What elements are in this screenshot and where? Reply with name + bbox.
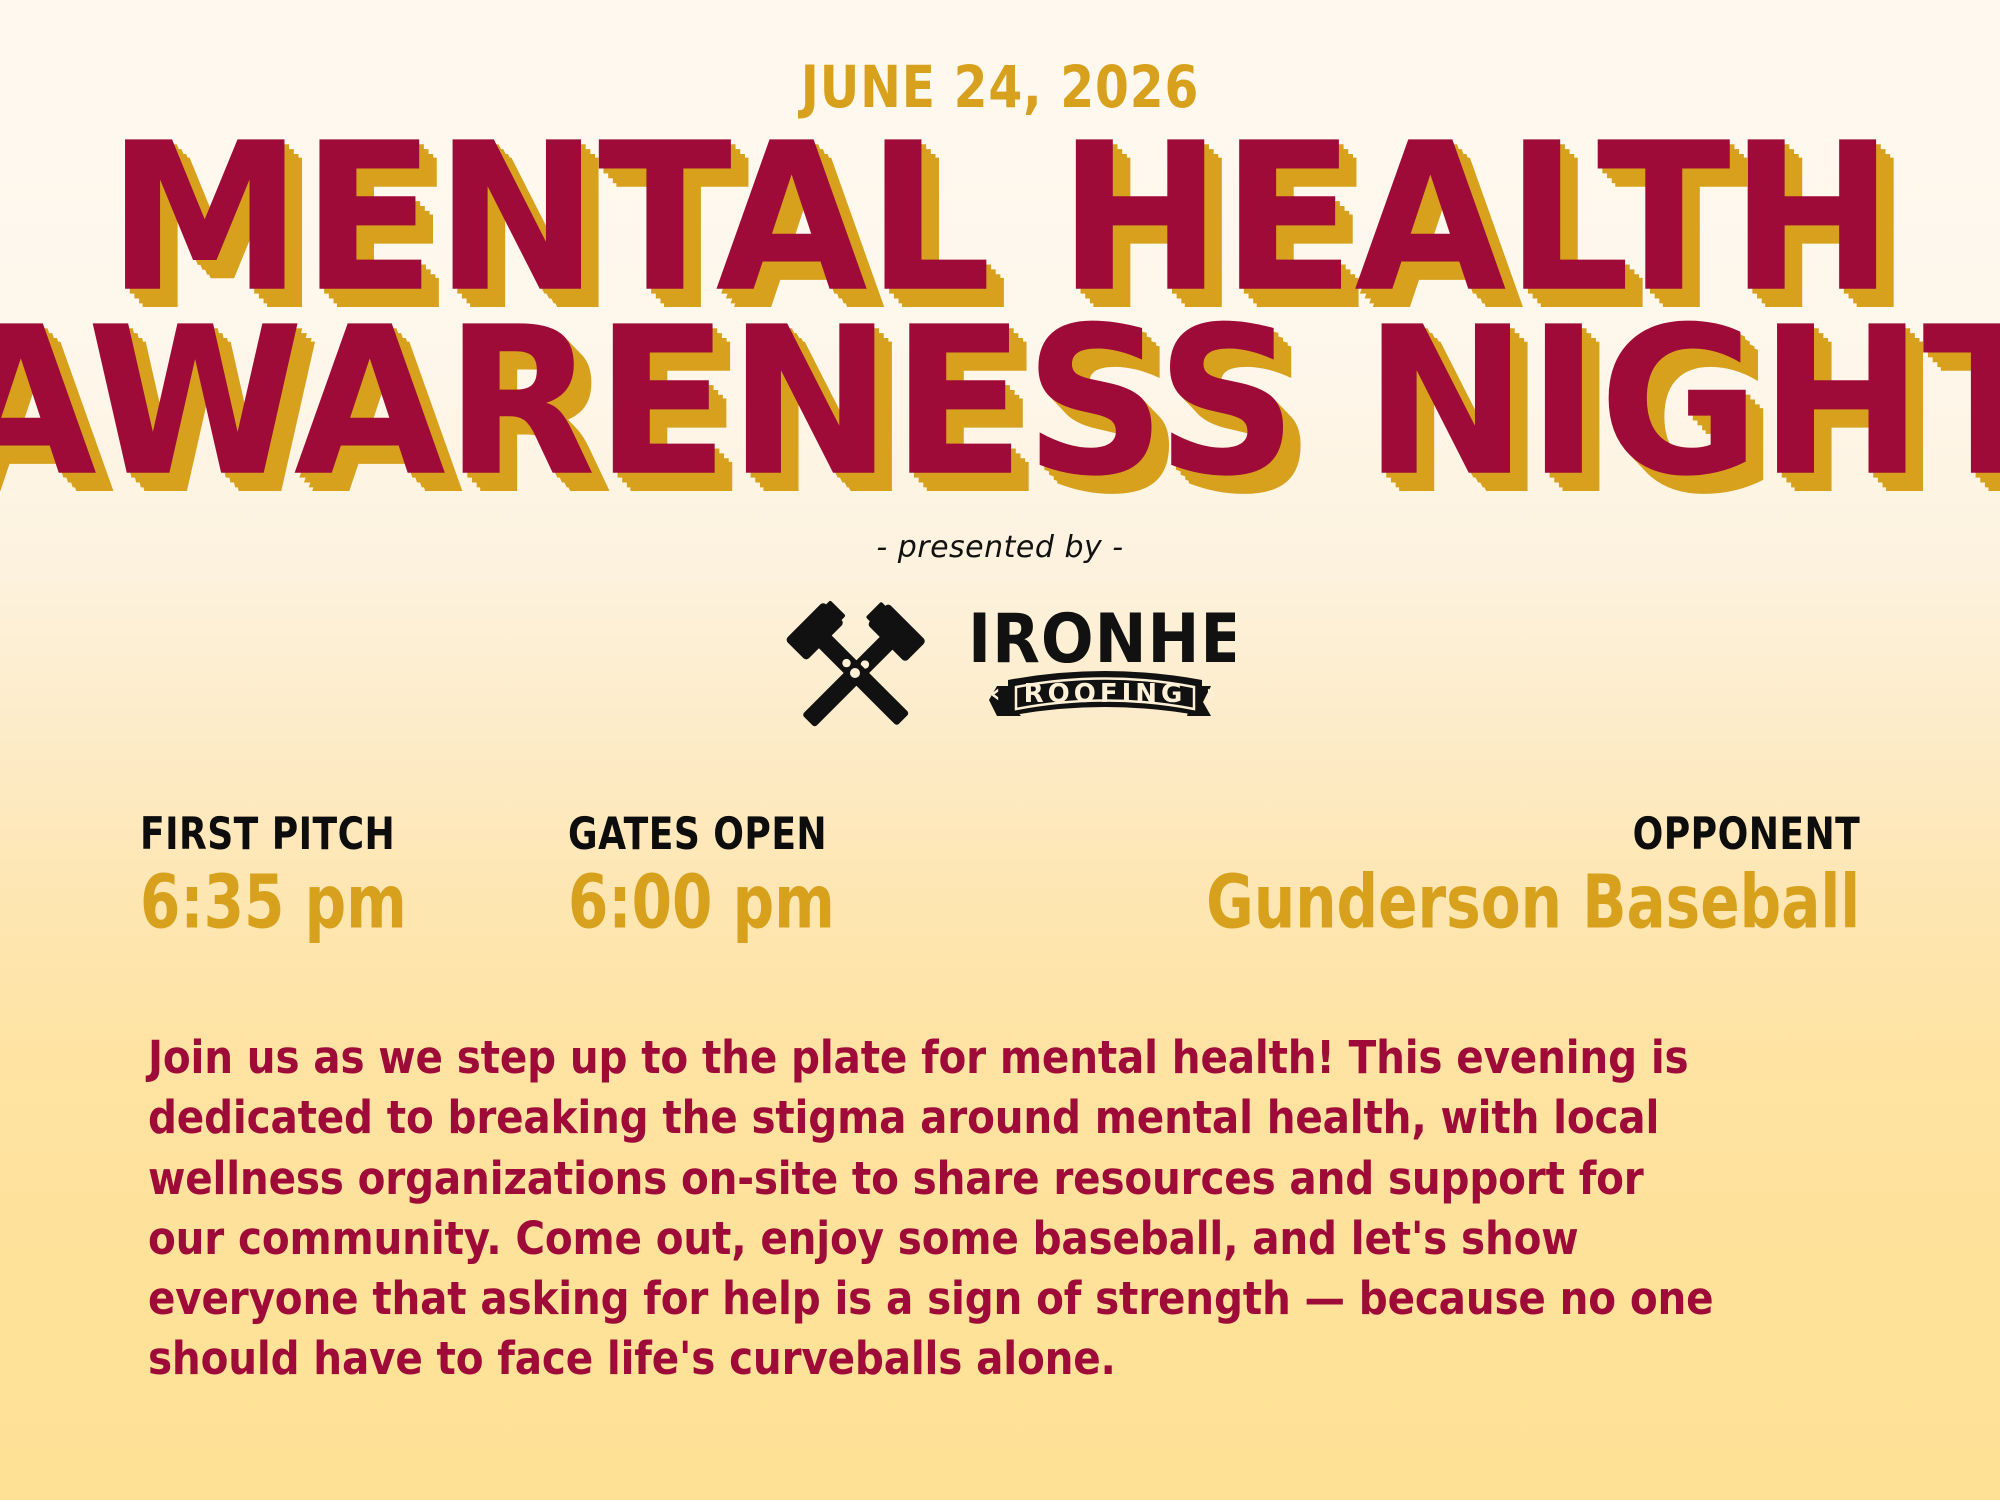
title-line-2: AWARENESS NIGHT (0, 307, 2000, 498)
banner-left-bracket: ‹ (990, 679, 1005, 709)
gates-open-value: 6:00 pm (568, 866, 835, 940)
opponent-value: Gunderson Baseball (1206, 866, 1860, 940)
opponent-label: OPPONENT (1221, 812, 1860, 856)
crossed-hammers-icon (785, 598, 926, 740)
roofing-banner: ‹ ROOFING › (989, 671, 1220, 716)
first-pitch-value: 6:35 pm (140, 866, 407, 940)
event-description: Join us as we step up to the plate for m… (148, 1028, 1714, 1390)
event-details-row: FIRST PITCH 6:35 pm GATES OPEN 6:00 pm O… (140, 812, 1860, 972)
detail-opponent: OPPONENT Gunderson Baseball (1117, 812, 1860, 932)
roofing-banner-text: ‹ ROOFING › (990, 679, 1220, 709)
first-pitch-label: FIRST PITCH (140, 812, 401, 856)
detail-gates-open: GATES OPEN 6:00 pm (568, 812, 871, 932)
gates-open-label: GATES OPEN (568, 812, 829, 856)
presented-by-label: - presented by - (0, 530, 2000, 565)
page-title: MENTAL HEALTH AWARENESS NIGHT (0, 140, 2000, 480)
sponsor-logo: IRONHEAD ‹ ROOFING › (0, 598, 2000, 748)
detail-first-pitch: FIRST PITCH 6:35 pm (140, 812, 443, 932)
event-poster: JUNE 24, 2026 MENTAL HEALTH AWARENESS NI… (0, 0, 2000, 1500)
ironhead-roofing-logo: IRONHEAD ‹ ROOFING › (765, 598, 1235, 748)
sponsor-wordmark: IRONHEAD (968, 600, 1235, 678)
banner-right-bracket: › (1205, 679, 1220, 709)
svg-text:IRONHEAD: IRONHEAD (968, 600, 1235, 678)
